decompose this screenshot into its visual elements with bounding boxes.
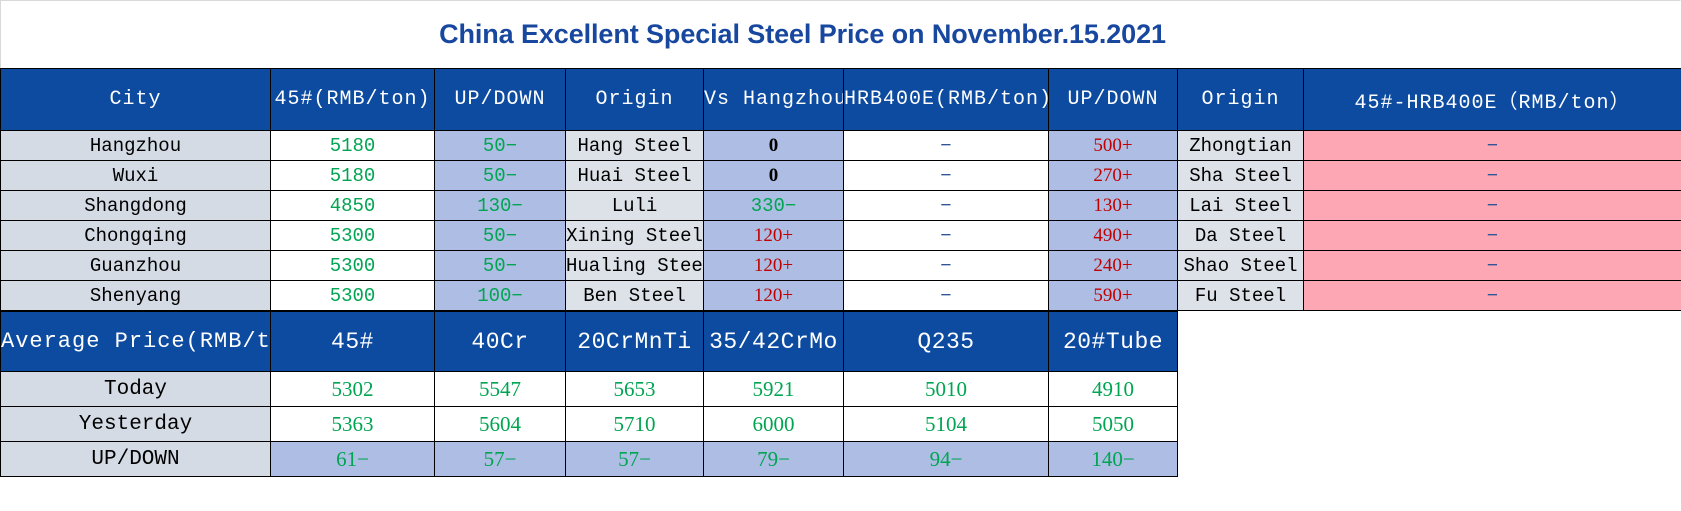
cell-origin-2[interactable]: Zhongtian [1178, 131, 1304, 161]
cell-45-price[interactable]: 5300 [271, 251, 435, 281]
cell-45-hrb-diff[interactable]: − [1304, 191, 1681, 221]
cell-updown-2[interactable]: 500+ [1049, 131, 1178, 161]
table-row: Shangdong4850130−Luli330−−130+Lai Steel− [1, 191, 1681, 221]
cell-vs-hangzhou[interactable]: 120+ [704, 281, 844, 311]
cell-updown-1[interactable]: 100− [435, 281, 566, 311]
cell-origin-1[interactable]: Xining Steel [566, 221, 704, 251]
cell-45-price[interactable]: 5180 [271, 161, 435, 191]
cell-updown-2[interactable]: 130+ [1049, 191, 1178, 221]
cell-45-hrb-diff[interactable]: − [1304, 131, 1681, 161]
header-grade-3542crmo[interactable]: 35/42CrMo [704, 312, 844, 372]
average-row: UP/DOWN61−57−57−79−94−140− [1, 442, 1178, 477]
average-cell[interactable]: 5604 [435, 407, 566, 442]
cell-vs-hangzhou[interactable]: 0 [704, 161, 844, 191]
header-city[interactable]: City [1, 69, 271, 131]
cell-updown-2[interactable]: 270+ [1049, 161, 1178, 191]
average-cell[interactable]: 5050 [1049, 407, 1178, 442]
cell-hrb400e[interactable]: − [844, 221, 1049, 251]
cell-origin-1[interactable]: Hang Steel [566, 131, 704, 161]
average-row-label[interactable]: Yesterday [1, 407, 271, 442]
cell-origin-2[interactable]: Lai Steel [1178, 191, 1304, 221]
table-row: Wuxi518050−Huai Steel0−270+Sha Steel− [1, 161, 1681, 191]
header-grade-20crmnti[interactable]: 20CrMnTi [566, 312, 704, 372]
header-origin-2[interactable]: Origin [1178, 69, 1304, 131]
cell-updown-1[interactable]: 50− [435, 221, 566, 251]
cell-45-hrb-diff[interactable]: − [1304, 221, 1681, 251]
cell-origin-2[interactable]: Shao Steel [1178, 251, 1304, 281]
table-row: Shenyang5300100−Ben Steel120+−590+Fu Ste… [1, 281, 1681, 311]
header-updown-1[interactable]: UP/DOWN [435, 69, 566, 131]
cell-vs-hangzhou[interactable]: 0 [704, 131, 844, 161]
average-cell[interactable]: 5363 [271, 407, 435, 442]
average-cell[interactable]: 140− [1049, 442, 1178, 477]
cell-45-price[interactable]: 4850 [271, 191, 435, 221]
average-header-row: Average Price(RMB/ton) 45# 40Cr 20CrMnTi… [1, 312, 1178, 372]
cell-updown-1[interactable]: 50− [435, 251, 566, 281]
table-row: Chongqing530050−Xining Steel120+−490+Da … [1, 221, 1681, 251]
average-cell[interactable]: 94− [844, 442, 1049, 477]
cell-hrb400e[interactable]: − [844, 251, 1049, 281]
average-cell[interactable]: 57− [566, 442, 704, 477]
cell-city[interactable]: Chongqing [1, 221, 271, 251]
cell-45-hrb-diff[interactable]: − [1304, 281, 1681, 311]
header-hrb400e[interactable]: HRB400E(RMB/ton) [844, 69, 1049, 131]
average-price-table: Average Price(RMB/ton) 45# 40Cr 20CrMnTi… [0, 311, 1178, 477]
header-grade-45[interactable]: 45# [271, 312, 435, 372]
cell-45-price[interactable]: 5300 [271, 281, 435, 311]
cell-updown-1[interactable]: 130− [435, 191, 566, 221]
average-cell[interactable]: 5653 [566, 372, 704, 407]
header-grade-40cr[interactable]: 40Cr [435, 312, 566, 372]
average-row: Yesterday536356045710600051045050 [1, 407, 1178, 442]
cell-city[interactable]: Shenyang [1, 281, 271, 311]
cell-origin-1[interactable]: Hualing Steel [566, 251, 704, 281]
cell-origin-2[interactable]: Fu Steel [1178, 281, 1304, 311]
cell-45-hrb-diff[interactable]: − [1304, 161, 1681, 191]
header-origin-1[interactable]: Origin [566, 69, 704, 131]
cell-origin-1[interactable]: Ben Steel [566, 281, 704, 311]
average-cell[interactable]: 61− [271, 442, 435, 477]
table-row: Hangzhou518050−Hang Steel0−500+Zhongtian… [1, 131, 1681, 161]
cell-city[interactable]: Shangdong [1, 191, 271, 221]
cell-origin-2[interactable]: Sha Steel [1178, 161, 1304, 191]
title-bar: China Excellent Special Steel Price on N… [0, 0, 1681, 68]
header-grade-q235[interactable]: Q235 [844, 312, 1049, 372]
cell-hrb400e[interactable]: − [844, 191, 1049, 221]
average-cell[interactable]: 5710 [566, 407, 704, 442]
cell-45-price[interactable]: 5300 [271, 221, 435, 251]
cell-hrb400e[interactable]: − [844, 281, 1049, 311]
header-45-hrb-diff[interactable]: 45#-HRB400E（RMB/ton） [1304, 69, 1681, 131]
table-header-row: City 45#(RMB/ton) UP/DOWN Origin Vs Hang… [1, 69, 1681, 131]
page-title: China Excellent Special Steel Price on N… [439, 19, 1166, 50]
average-cell[interactable]: 4910 [1049, 372, 1178, 407]
header-updown-2[interactable]: UP/DOWN [1049, 69, 1178, 131]
header-average-price[interactable]: Average Price(RMB/ton) [1, 312, 271, 372]
average-row-label[interactable]: Today [1, 372, 271, 407]
average-cell[interactable]: 57− [435, 442, 566, 477]
cell-city[interactable]: Wuxi [1, 161, 271, 191]
cell-vs-hangzhou[interactable]: 330− [704, 191, 844, 221]
average-row: Today530255475653592150104910 [1, 372, 1178, 407]
average-cell[interactable]: 5104 [844, 407, 1049, 442]
average-cell[interactable]: 5010 [844, 372, 1049, 407]
cell-city[interactable]: Guanzhou [1, 251, 271, 281]
cell-45-price[interactable]: 5180 [271, 131, 435, 161]
cell-45-hrb-diff[interactable]: − [1304, 251, 1681, 281]
cell-origin-2[interactable]: Da Steel [1178, 221, 1304, 251]
average-cell[interactable]: 5547 [435, 372, 566, 407]
average-cell[interactable]: 79− [704, 442, 844, 477]
cell-updown-2[interactable]: 490+ [1049, 221, 1178, 251]
cell-origin-1[interactable]: Luli [566, 191, 704, 221]
average-row-label[interactable]: UP/DOWN [1, 442, 271, 477]
cell-updown-2[interactable]: 590+ [1049, 281, 1178, 311]
average-cell[interactable]: 5921 [704, 372, 844, 407]
cell-vs-hangzhou[interactable]: 120+ [704, 221, 844, 251]
cell-updown-2[interactable]: 240+ [1049, 251, 1178, 281]
cell-vs-hangzhou[interactable]: 120+ [704, 251, 844, 281]
cell-updown-1[interactable]: 50− [435, 131, 566, 161]
header-vs-hangzhou[interactable]: Vs Hangzhou [704, 69, 844, 131]
header-grade-20tube[interactable]: 20#Tube [1049, 312, 1178, 372]
cell-hrb400e[interactable]: − [844, 161, 1049, 191]
header-45-price[interactable]: 45#(RMB/ton) [271, 69, 435, 131]
table-row: Guanzhou530050−Hualing Steel120+−240+Sha… [1, 251, 1681, 281]
cell-hrb400e[interactable]: − [844, 131, 1049, 161]
average-cell[interactable]: 6000 [704, 407, 844, 442]
cell-city[interactable]: Hangzhou [1, 131, 271, 161]
cell-origin-1[interactable]: Huai Steel [566, 161, 704, 191]
cell-updown-1[interactable]: 50− [435, 161, 566, 191]
steel-price-table: City 45#(RMB/ton) UP/DOWN Origin Vs Hang… [0, 68, 1681, 311]
average-cell[interactable]: 5302 [271, 372, 435, 407]
